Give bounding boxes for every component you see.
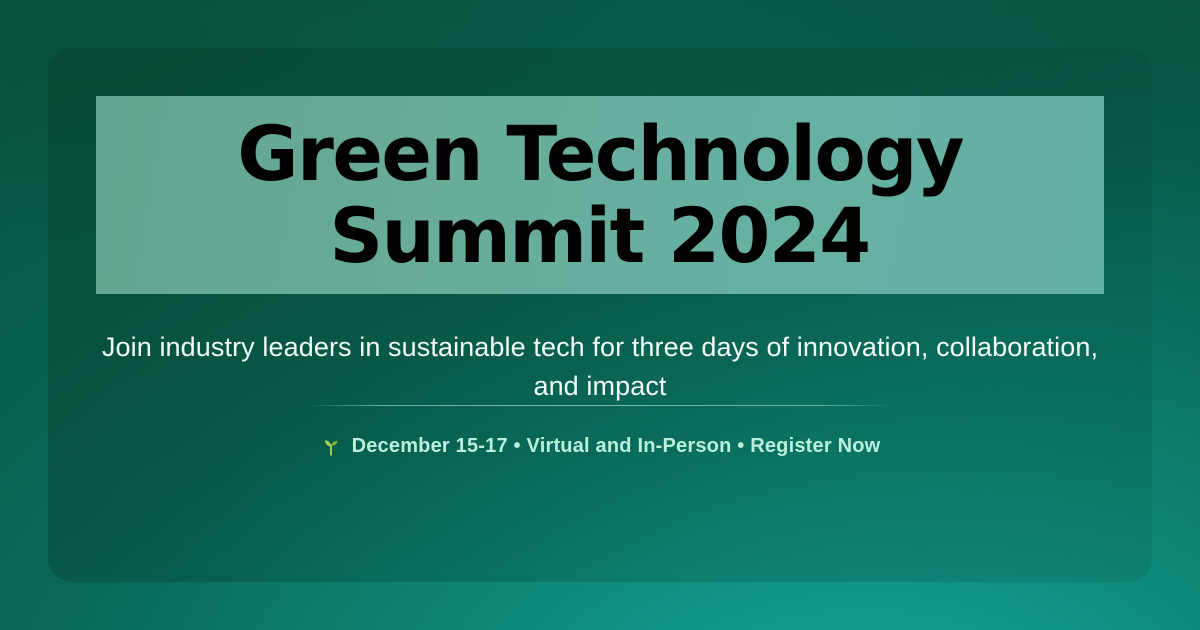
footer-details-text: December 15-17 • Virtual and In-Person •… <box>352 433 881 459</box>
page-title-line-1: Green Technology <box>237 113 963 195</box>
poster-card: Green Technology Summit 2024 Join indust… <box>48 48 1152 582</box>
section-divider <box>313 405 887 406</box>
poster-subtitle: Join industry leaders in sustainable tec… <box>96 328 1104 406</box>
sprout-icon <box>320 435 342 457</box>
poster-footer: December 15-17 • Virtual and In-Person •… <box>96 433 1104 459</box>
page-title-line-2: Summit 2024 <box>330 195 870 277</box>
title-banner: Green Technology Summit 2024 <box>96 96 1104 294</box>
event-poster: Green Technology Summit 2024 Join indust… <box>0 0 1200 630</box>
